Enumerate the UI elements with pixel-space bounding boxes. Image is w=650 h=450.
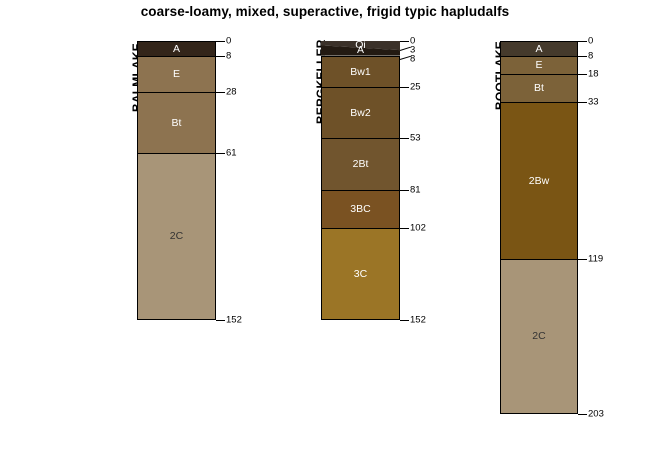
horizon-bt: Bt xyxy=(137,92,216,153)
horizon-label-2bt: 2Bt xyxy=(353,159,369,170)
tick-value: 152 xyxy=(226,315,242,325)
soil-profile-chart: coarse-loamy, mixed, superactive, frigid… xyxy=(0,0,650,450)
tick-value: 8 xyxy=(588,51,593,61)
horizon-e: E xyxy=(500,56,578,74)
horizon-bw1: Bw1 xyxy=(321,56,400,87)
horizon-2bw: 2Bw xyxy=(500,102,578,260)
tick-mark xyxy=(400,41,409,42)
tick-value: 61 xyxy=(226,148,237,158)
tick-mark xyxy=(400,228,409,229)
horizon-label-a: A xyxy=(535,44,542,55)
horizon-2c: 2C xyxy=(500,259,578,413)
horizon-label-bw2: Bw2 xyxy=(350,108,370,119)
tick-value: 81 xyxy=(410,185,421,195)
horizon-bw2: Bw2 xyxy=(321,87,400,138)
horizon-a: A xyxy=(500,41,578,56)
chart-title: coarse-loamy, mixed, superactive, frigid… xyxy=(0,4,650,19)
horizon-label-e: E xyxy=(173,69,180,80)
horizon-label-a: A xyxy=(173,44,180,55)
tick-value: 8 xyxy=(226,51,231,61)
tick-mark xyxy=(578,41,587,42)
tick-mark xyxy=(578,56,587,57)
horizon-bt: Bt xyxy=(500,74,578,102)
horizon-3bc: 3BC xyxy=(321,190,400,229)
tick-mark xyxy=(578,259,587,260)
tick-mark xyxy=(400,87,409,88)
tick-value: 28 xyxy=(226,88,237,98)
tick-value: 152 xyxy=(410,315,426,325)
horizon-2c: 2C xyxy=(137,153,216,320)
tick-mark xyxy=(216,41,225,42)
tick-value: 25 xyxy=(410,82,421,92)
horizon-label-bt: Bt xyxy=(534,83,544,94)
horizon-a: A xyxy=(137,41,216,56)
tick-value: 33 xyxy=(588,97,599,107)
tick-value: 119 xyxy=(588,255,603,265)
tick-mark xyxy=(400,138,409,139)
horizon-label-bt: Bt xyxy=(172,118,182,129)
horizon-label-2c: 2C xyxy=(170,231,183,242)
tick-mark xyxy=(400,190,409,191)
tick-mark xyxy=(216,92,225,93)
tick-mark xyxy=(578,102,587,103)
tick-value: 203 xyxy=(588,409,604,419)
horizon-e: E xyxy=(137,56,216,93)
horizon-label-bw1: Bw1 xyxy=(350,67,370,78)
tick-mark xyxy=(578,74,587,75)
tick-value: 53 xyxy=(410,134,421,144)
horizon-2bt: 2Bt xyxy=(321,138,400,189)
tick-value: 0 xyxy=(226,36,231,46)
horizon-3c: 3C xyxy=(321,228,400,320)
tick-mark xyxy=(578,414,587,415)
horizon-label-e: E xyxy=(535,60,542,71)
tick-mark xyxy=(216,153,225,154)
horizon-label-3bc: 3BC xyxy=(350,204,370,215)
horizon-label-3c: 3C xyxy=(354,269,367,280)
horizon-a xyxy=(321,41,400,56)
tick-mark xyxy=(400,320,409,321)
tick-value: 102 xyxy=(410,223,426,233)
tick-mark xyxy=(216,320,225,321)
horizon-label-2c: 2C xyxy=(532,331,545,342)
tick-value: 0 xyxy=(588,36,593,46)
horizon-label-2bw: 2Bw xyxy=(529,176,549,187)
tick-mark xyxy=(216,56,225,57)
tick-value: 8 xyxy=(410,54,415,64)
tick-value: 18 xyxy=(588,69,599,79)
